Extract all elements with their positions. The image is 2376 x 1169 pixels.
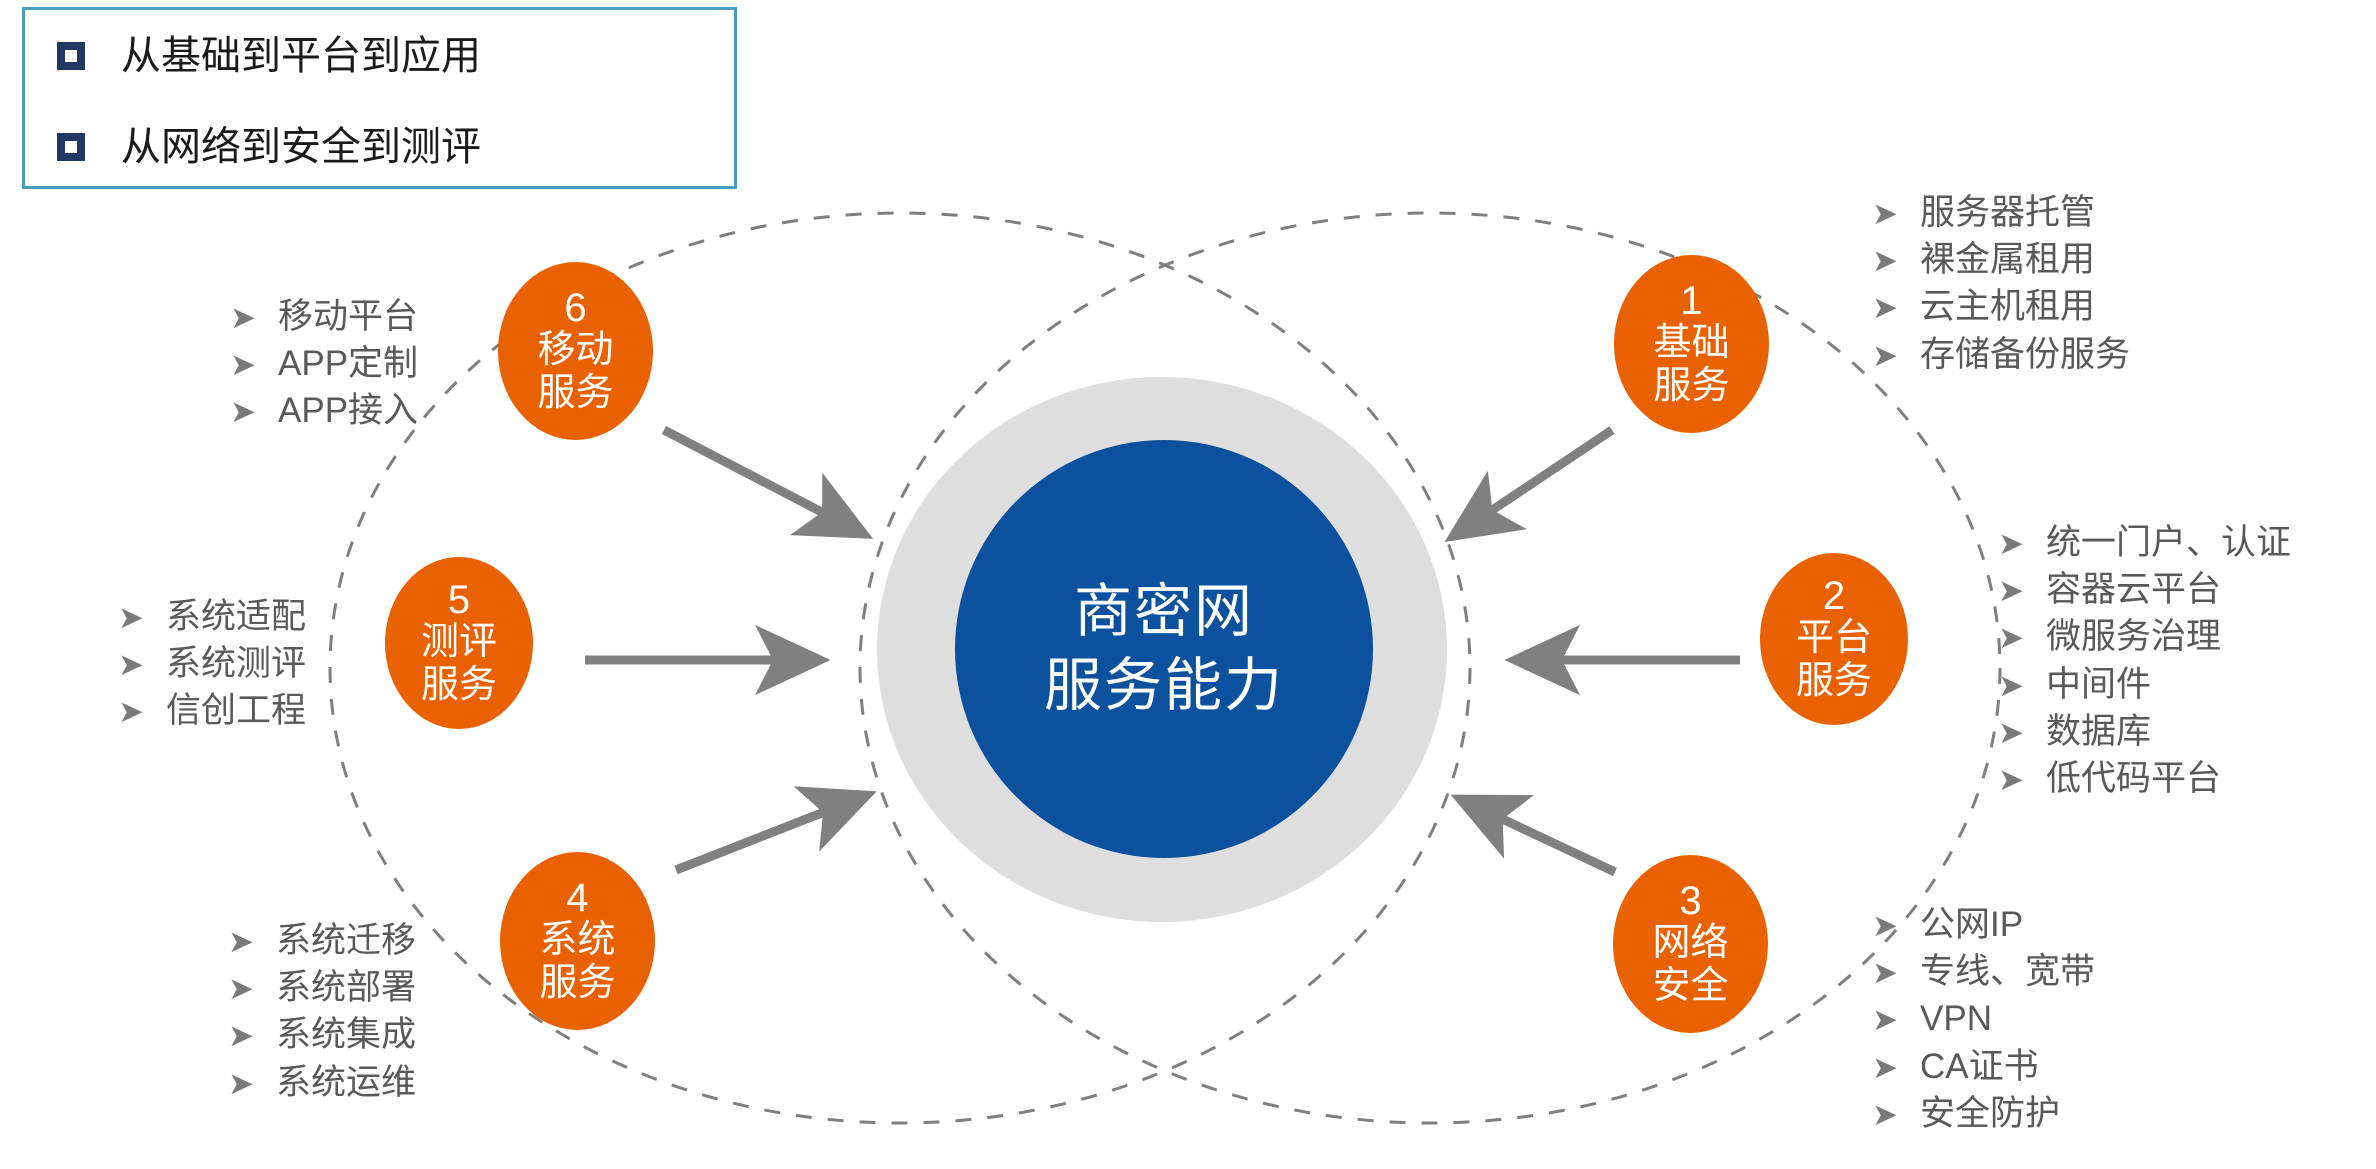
list-item-label: 系统适配 xyxy=(166,597,306,636)
chevron-right-bullet-icon: ➤ xyxy=(1872,1053,1902,1084)
list-item-label: 容器云平台 xyxy=(2046,570,2221,609)
list-item-label: 移动平台 xyxy=(278,297,418,336)
list-item: ➤APP接入 xyxy=(230,391,418,430)
list-item-label: 数据库 xyxy=(2046,712,2151,751)
node-label-line2: 服务 xyxy=(537,372,613,415)
list-node-2: ➤统一门户、认证➤容器云平台➤微服务治理➤中间件➤数据库➤低代码平台 xyxy=(1998,523,2291,806)
node-label-line2: 服务 xyxy=(539,962,615,1005)
list-node-5: ➤系统适配➤系统测评➤信创工程 xyxy=(118,597,306,739)
chevron-right-bullet-icon: ➤ xyxy=(228,927,258,958)
chevron-right-bullet-icon: ➤ xyxy=(228,1069,258,1100)
list-item: ➤统一门户、认证 xyxy=(1998,523,2291,562)
list-item: ➤系统迁移 xyxy=(228,921,416,960)
chevron-right-bullet-icon: ➤ xyxy=(1872,293,1902,324)
chevron-right-bullet-icon: ➤ xyxy=(228,974,258,1005)
node-1-basic-service[interactable]: 1 基础 服务 xyxy=(1614,255,1769,433)
header-item-0: 从基础到平台到应用 xyxy=(25,10,734,101)
node-label-line1: 测评 xyxy=(421,621,497,664)
header-item-label: 从基础到平台到应用 xyxy=(121,36,481,76)
list-item: ➤VPN xyxy=(1872,999,2095,1038)
list-item: ➤CA证书 xyxy=(1872,1047,2095,1086)
square-checkbox-icon xyxy=(57,133,85,161)
chevron-right-bullet-icon: ➤ xyxy=(118,697,148,728)
list-item-label: 公网IP xyxy=(1920,905,2023,944)
list-item-label: APP定制 xyxy=(278,344,418,383)
list-item: ➤数据库 xyxy=(1998,712,2291,751)
node-3-network-security[interactable]: 3 网络 安全 xyxy=(1613,855,1768,1033)
list-item-label: 系统迁移 xyxy=(276,921,416,960)
node-label-line1: 基础 xyxy=(1653,322,1729,365)
chevron-right-bullet-icon: ➤ xyxy=(228,1021,258,1052)
list-item: ➤专线、宽带 xyxy=(1872,952,2095,991)
node-number: 1 xyxy=(1680,280,1702,322)
node-label-line2: 安全 xyxy=(1652,965,1728,1008)
list-node-3: ➤公网IP➤专线、宽带➤VPN➤CA证书➤安全防护 xyxy=(1872,905,2095,1141)
chevron-right-bullet-icon: ➤ xyxy=(1998,718,2028,749)
node-4-system-service[interactable]: 4 系统 服务 xyxy=(500,852,655,1030)
list-item-label: 信创工程 xyxy=(166,691,306,730)
list-item-label: 裸金属租用 xyxy=(1920,240,2095,279)
list-item: ➤系统集成 xyxy=(228,1015,416,1054)
list-item-label: 专线、宽带 xyxy=(1920,952,2095,991)
chevron-right-bullet-icon: ➤ xyxy=(1998,765,2028,796)
chevron-right-bullet-icon: ➤ xyxy=(1998,529,2028,560)
node-label-line2: 服务 xyxy=(1653,365,1729,408)
arrow-node6-to-hub xyxy=(664,430,862,533)
node-label-line2: 服务 xyxy=(421,664,497,707)
arrow-node4-to-hub xyxy=(676,796,865,870)
chevron-right-bullet-icon: ➤ xyxy=(1998,623,2028,654)
list-item: ➤低代码平台 xyxy=(1998,759,2291,798)
list-item: ➤微服务治理 xyxy=(1998,617,2291,656)
list-item: ➤系统测评 xyxy=(118,644,306,683)
list-node-1: ➤服务器托管➤裸金属租用➤云主机租用➤存储备份服务 xyxy=(1872,193,2130,382)
node-5-evaluation-service[interactable]: 5 测评 服务 xyxy=(385,557,533,729)
list-item: ➤安全防护 xyxy=(1872,1094,2095,1133)
list-item-label: 安全防护 xyxy=(1920,1094,2060,1133)
list-item-label: 系统部署 xyxy=(276,968,416,1007)
list-item-label: VPN xyxy=(1920,999,1992,1038)
list-item-label: 统一门户、认证 xyxy=(2046,523,2291,562)
node-label-line1: 移动 xyxy=(537,329,613,372)
list-item-label: 服务器托管 xyxy=(1920,193,2095,232)
header-item-label: 从网络到安全到测评 xyxy=(121,127,481,167)
list-item: ➤裸金属租用 xyxy=(1872,240,2130,279)
list-item: ➤信创工程 xyxy=(118,691,306,730)
list-item: ➤中间件 xyxy=(1998,665,2291,704)
node-2-platform-service[interactable]: 2 平台 服务 xyxy=(1760,553,1908,725)
node-6-mobile-service[interactable]: 6 移动 服务 xyxy=(498,262,653,440)
list-item-label: 存储备份服务 xyxy=(1920,335,2130,374)
node-number: 3 xyxy=(1679,880,1701,922)
list-item: ➤APP定制 xyxy=(230,344,418,383)
chevron-right-bullet-icon: ➤ xyxy=(1872,1005,1902,1036)
chevron-right-bullet-icon: ➤ xyxy=(230,350,260,381)
list-item-label: 微服务治理 xyxy=(2046,617,2221,656)
list-item-label: APP接入 xyxy=(278,391,418,430)
list-node-6: ➤移动平台➤APP定制➤APP接入 xyxy=(230,297,418,439)
node-label-line2: 服务 xyxy=(1796,660,1872,703)
node-label-line1: 平台 xyxy=(1796,617,1872,660)
list-item: ➤系统适配 xyxy=(118,597,306,636)
list-item: ➤容器云平台 xyxy=(1998,570,2291,609)
chevron-right-bullet-icon: ➤ xyxy=(230,397,260,428)
list-item-label: 系统集成 xyxy=(276,1015,416,1054)
list-item-label: 系统运维 xyxy=(276,1063,416,1102)
list-item-label: 云主机租用 xyxy=(1920,287,2095,326)
list-item: ➤系统部署 xyxy=(228,968,416,1007)
node-label-line1: 网络 xyxy=(1652,922,1728,965)
list-item: ➤公网IP xyxy=(1872,905,2095,944)
hub-title-line1: 商密网 xyxy=(1074,575,1254,649)
list-item: ➤云主机租用 xyxy=(1872,287,2130,326)
list-item: ➤存储备份服务 xyxy=(1872,335,2130,374)
chevron-right-bullet-icon: ➤ xyxy=(1872,958,1902,989)
node-number: 5 xyxy=(448,579,470,621)
node-label-line1: 系统 xyxy=(539,919,615,962)
list-item-label: 低代码平台 xyxy=(2046,759,2221,798)
list-item-label: 系统测评 xyxy=(166,644,306,683)
chevron-right-bullet-icon: ➤ xyxy=(1872,1100,1902,1131)
chevron-right-bullet-icon: ➤ xyxy=(1872,199,1902,230)
arrow-node1-to-hub xyxy=(1455,430,1612,535)
list-item-label: 中间件 xyxy=(2046,665,2151,704)
node-number: 2 xyxy=(1823,575,1845,617)
chevron-right-bullet-icon: ➤ xyxy=(1872,246,1902,277)
chevron-right-bullet-icon: ➤ xyxy=(1872,911,1902,942)
square-checkbox-icon xyxy=(57,42,85,70)
header-callout-box: 从基础到平台到应用 从网络到安全到测评 xyxy=(22,7,737,189)
list-item: ➤服务器托管 xyxy=(1872,193,2130,232)
list-item-label: CA证书 xyxy=(1920,1047,2039,1086)
chevron-right-bullet-icon: ➤ xyxy=(230,303,260,334)
chevron-right-bullet-icon: ➤ xyxy=(1872,341,1902,372)
arrow-node3-to-hub xyxy=(1462,800,1615,872)
node-number: 6 xyxy=(564,287,586,329)
chevron-right-bullet-icon: ➤ xyxy=(118,650,148,681)
list-item: ➤系统运维 xyxy=(228,1063,416,1102)
chevron-right-bullet-icon: ➤ xyxy=(1998,576,2028,607)
hub-core-circle: 商密网 服务能力 xyxy=(955,440,1373,858)
list-node-4: ➤系统迁移➤系统部署➤系统集成➤系统运维 xyxy=(228,921,416,1110)
header-item-1: 从网络到安全到测评 xyxy=(25,101,734,192)
chevron-right-bullet-icon: ➤ xyxy=(1998,671,2028,702)
list-item: ➤移动平台 xyxy=(230,297,418,336)
hub-title-line2: 服务能力 xyxy=(1044,649,1284,723)
chevron-right-bullet-icon: ➤ xyxy=(118,603,148,634)
node-number: 4 xyxy=(566,877,588,919)
